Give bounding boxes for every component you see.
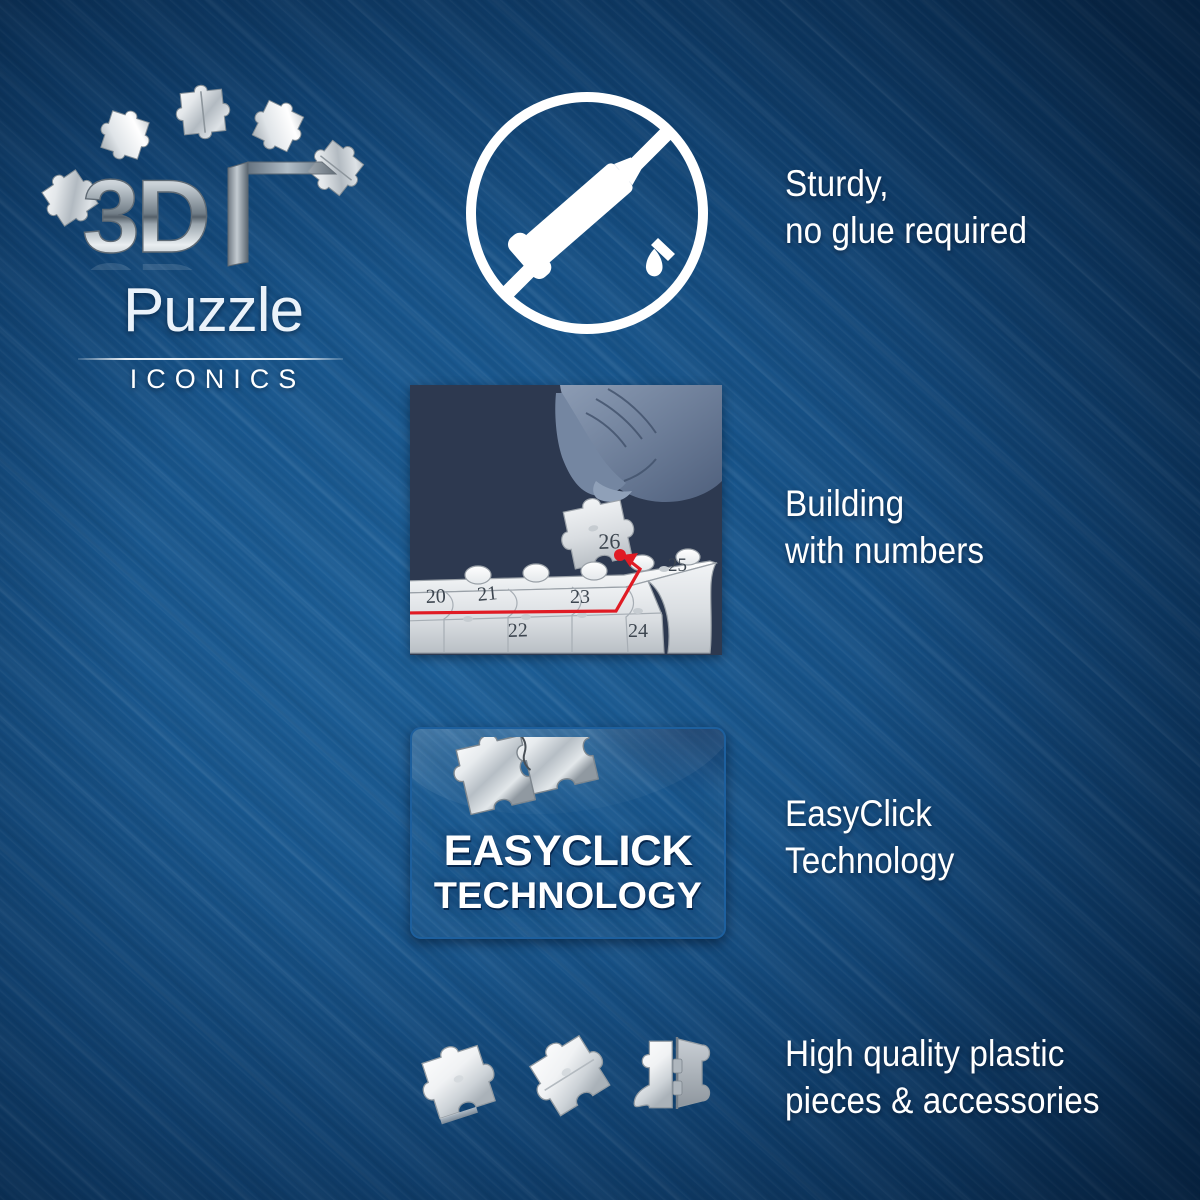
feature-line-2: with numbers [785,527,984,574]
svg-text:24: 24 [628,620,648,642]
plastic-pieces-illustration [400,1005,740,1145]
feature-line-1: EasyClick [785,790,954,837]
infographic-panel: 3D 3D Puzzle ICONICS Sturdy, no glue req… [0,0,1200,1200]
svg-text:21: 21 [476,582,498,606]
feature-line-1: Building [785,480,984,527]
logo-puzzle-word: Puzzle [68,280,358,342]
logo-iconics-word: ICONICS [68,366,358,393]
feature-line-1: High quality plastic [785,1030,1100,1077]
feature-line-2: pieces & accessories [785,1077,1100,1124]
logo-3d-text: 3D 3D [78,160,348,270]
easyclick-badge-title-1: EASYCLICK [410,827,726,876]
feature-line-1: Sturdy, [785,160,1027,207]
feature-text-no-glue: Sturdy, no glue required [785,160,1027,255]
svg-text:22: 22 [507,619,528,642]
feature-line-2: no glue required [785,207,1027,254]
feature-text-easyclick: EasyClick Technology [785,790,954,885]
svg-text:3D: 3D [82,241,207,270]
feature-line-2: Technology [785,837,954,884]
svg-text:23: 23 [570,586,590,608]
svg-text:25: 25 [668,555,687,576]
feature-text-numbers: Building with numbers [785,480,984,575]
brand-logo: 3D 3D Puzzle ICONICS [40,40,380,380]
svg-text:20: 20 [425,585,446,608]
no-glue-icon [462,88,712,338]
logo-divider [78,358,343,360]
easyclick-badge: EASYCLICK TECHNOLOGY [410,727,726,939]
feature-text-quality: High quality plastic pieces & accessorie… [785,1030,1100,1125]
easyclick-badge-title-2: TECHNOLOGY [410,875,726,917]
building-with-numbers-illustration: 26 [410,385,722,655]
